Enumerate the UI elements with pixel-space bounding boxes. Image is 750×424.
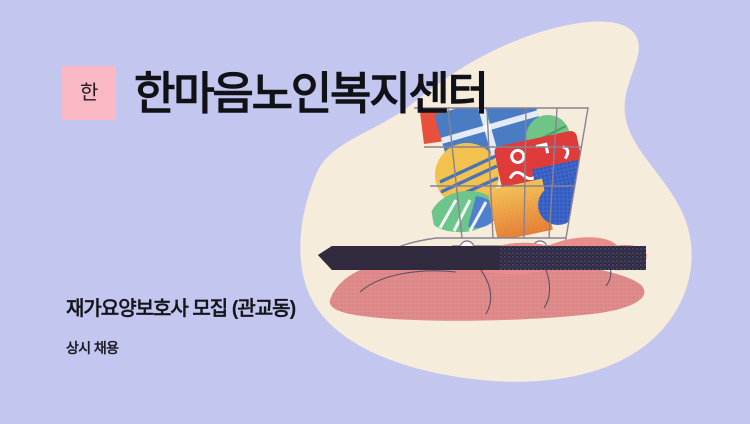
organization-logo-badge: 한 xyxy=(62,66,116,120)
item-leaf-green-blue xyxy=(430,191,497,232)
organization-title: 한마음노인복지센터 xyxy=(134,71,487,116)
cart-handle-bar xyxy=(318,246,646,270)
logo-badge-text: 한 xyxy=(80,83,98,103)
hiring-status-label: 상시 채용 xyxy=(66,338,118,358)
job-posting-banner: 한 한마음노인복지센터 재가요양보호사 모집 (관교동) 상시 채용 xyxy=(0,0,750,424)
hand-holding-shopping-cart-illustration xyxy=(0,0,750,424)
header-title-row: 한 한마음노인복지센터 xyxy=(62,66,487,120)
job-position-title: 재가요양보호사 모집 (관교동) xyxy=(66,292,295,321)
